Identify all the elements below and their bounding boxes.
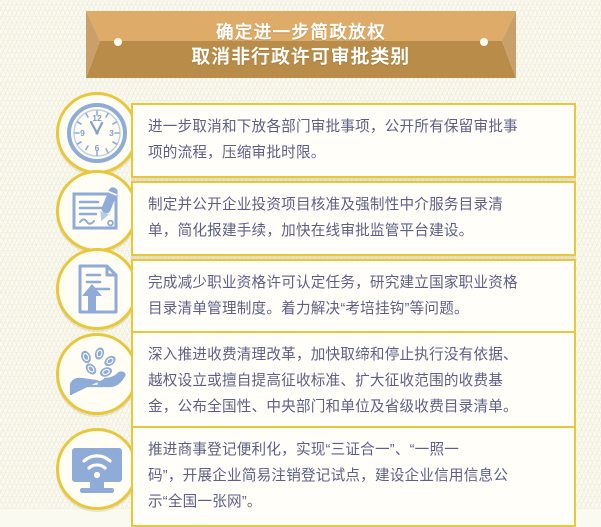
monitor-wifi-icon	[66, 438, 128, 500]
content-card: 推进商事登记便利化，实现“三证合一”、“一照一 码”，开展企业简易注销登记试点，…	[131, 426, 576, 527]
icon-badge-document-upload	[56, 248, 138, 330]
icon-badge-clock: 12 3 6 9	[56, 92, 138, 174]
clock-numeral-9: 9	[80, 128, 85, 138]
icon-badge-monitor-wifi	[56, 428, 138, 510]
content-card-text: 推进商事登记便利化，实现“三证合一”、“一照一 码”，开展企业简易注销登记试点，…	[133, 428, 574, 525]
icon-badge-hand-coins	[56, 333, 138, 415]
content-card-text: 进一步取消和下放各部门审批事项，公开所有保留审批事 项的流程，压缩审批时限。	[133, 105, 574, 176]
banner-ribbon-shape	[86, 11, 516, 78]
clock-numeral-3: 3	[109, 128, 114, 138]
icon-badge-document-pen	[56, 170, 138, 252]
content-card: 制定并公开企业投资项目核准及强制性中介服务目录清 单，简化报建手续，加快在线审批…	[131, 181, 576, 256]
content-card-text: 制定并公开企业投资项目核准及强制性中介服务目录清 单，简化报建手续，加快在线审批…	[133, 183, 574, 254]
clock-icon: 12 3 6 9	[66, 102, 128, 164]
content-card: 进一步取消和下放各部门审批事项，公开所有保留审批事 项的流程，压缩审批时限。	[131, 103, 576, 178]
clock-numeral-6: 6	[95, 143, 100, 153]
clock-numeral-12: 12	[92, 113, 102, 123]
banner-dot-right	[480, 38, 488, 46]
header-banner: 确定进一步简政放权 取消非行政许可审批类别	[86, 11, 516, 78]
hand-coins-icon	[66, 343, 128, 405]
banner-dot-left	[114, 38, 122, 46]
document-upload-icon	[66, 258, 128, 320]
infographic-page: 确定进一步简政放权 取消非行政许可审批类别	[0, 0, 601, 509]
content-card-text: 深入推进收费清理改革，加快取缔和停止执行没有依据、 越权设立或擅自提高征收标准、…	[133, 333, 574, 430]
content-card: 完成减少职业资格许可认定任务，研究建立国家职业资格 目录清单管理制度。着力解决“…	[131, 259, 576, 334]
document-pen-icon	[66, 180, 128, 242]
content-card: 深入推进收费清理改革，加快取缔和停止执行没有依据、 越权设立或擅自提高征收标准、…	[131, 331, 576, 432]
content-card-text: 完成减少职业资格许可认定任务，研究建立国家职业资格 目录清单管理制度。着力解决“…	[133, 261, 574, 332]
